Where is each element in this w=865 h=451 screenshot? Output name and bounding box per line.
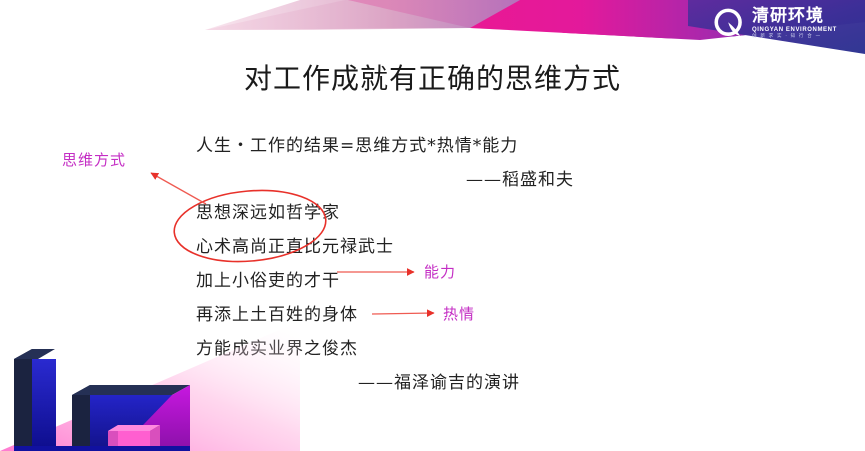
logo-slogan: 创 新 求 实 · 知 行 合 一: [752, 35, 837, 40]
bar-mid-front: [90, 395, 172, 451]
poem-line-1: 思想深远如哲学家: [196, 198, 340, 223]
bottom-blue-strip: [14, 446, 190, 451]
slide-canvas: 清研环境 QINGYAN ENVIRONMENT 创 新 求 实 · 知 行 合…: [0, 0, 865, 451]
annotation-label-reqing: 热情: [443, 303, 475, 324]
q-leaf-logo-icon: [712, 7, 746, 41]
arrow-to-reqing: [372, 313, 434, 314]
poem-line-4: 再添上土百姓的身体: [196, 300, 358, 325]
bar-tall-side: [14, 349, 32, 451]
slide-title: 对工作成就有正确的思维方式: [0, 57, 865, 97]
pink-cube-top: [108, 425, 160, 431]
annotation-label-nengli: 能力: [424, 261, 456, 282]
company-logo: 清研环境 QINGYAN ENVIRONMENT 创 新 求 实 · 知 行 合…: [712, 4, 862, 44]
bar-mid-top: [72, 385, 190, 395]
logo-wordmark: 清研环境 QINGYAN ENVIRONMENT 创 新 求 实 · 知 行 合…: [752, 8, 837, 40]
poem-line-3: 加上小俗吏的才干: [196, 266, 340, 291]
pink-cube-right: [150, 425, 160, 451]
poem-line-5: 方能成实业界之俊杰: [196, 334, 358, 359]
attribution-inamori: ——稻盛和夫: [466, 165, 574, 190]
bar-tall-front: [32, 359, 56, 451]
annotation-label-siweifangshi: 思维方式: [62, 149, 126, 170]
magenta-block: [118, 385, 190, 451]
bar-tall-top: [14, 349, 55, 359]
bar-mid-side: [72, 385, 90, 451]
logo-name-en: QINGYAN ENVIRONMENT: [752, 27, 837, 33]
poem-line-2: 心术高尚正直比元禄武士: [196, 232, 394, 257]
pink-cube-side: [108, 425, 118, 451]
pink-cube-front: [118, 431, 150, 451]
formula-line: 人生・工作的结果=思维方式*热情*能力: [196, 131, 518, 156]
logo-name-cn: 清研环境: [752, 8, 837, 25]
attribution-fukuzawa: ——福泽谕吉的演讲: [358, 368, 520, 393]
